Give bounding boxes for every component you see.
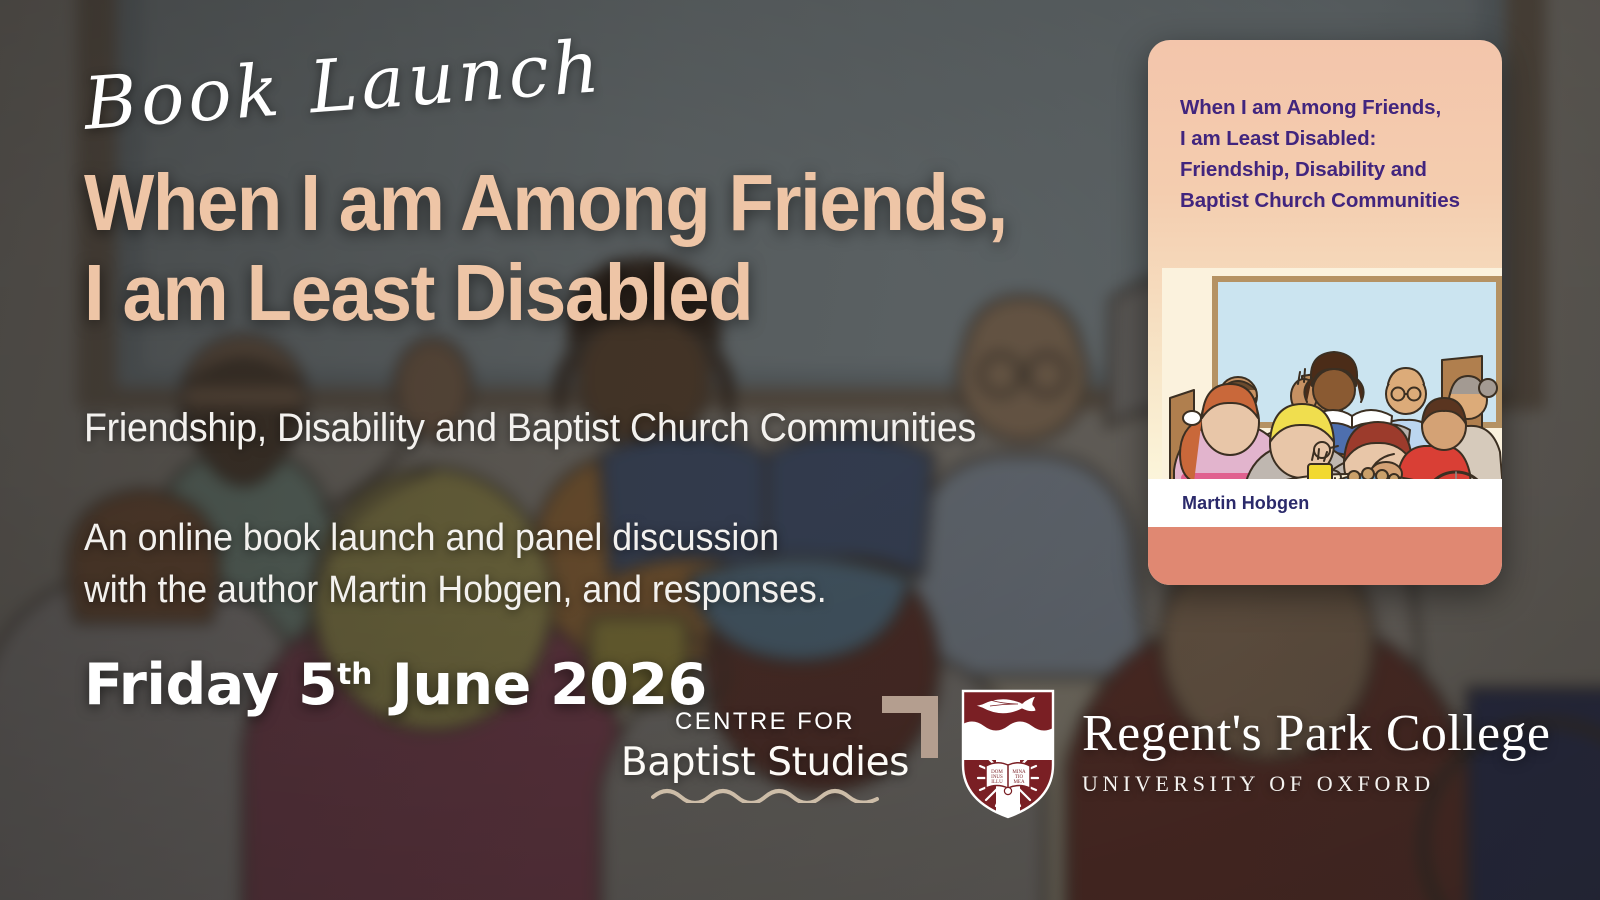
college-wordmark: Regent's Park College UNIVERSITY OF OXFO… [1082, 707, 1550, 801]
book-cover-author-band: Martin Hobgen [1148, 479, 1502, 527]
svg-text:MEA: MEA [1013, 780, 1025, 785]
poster-description: An online book launch and panel discussi… [84, 512, 827, 617]
centre-logo-line-1: CENTRE FOR [620, 708, 910, 736]
title-line-2: I am Least Disabled [84, 248, 1023, 338]
college-name: Regent's Park College [1082, 707, 1550, 760]
book-launch-poster: Book Launch When I am Among Friends, I a… [0, 0, 1600, 900]
svg-text:ILLU: ILLU [991, 780, 1003, 785]
bracket-vertical [921, 696, 938, 758]
page-title: When I am Among Friends, I am Least Disa… [84, 158, 1023, 337]
cover-title-line-2: I am Least Disabled: [1180, 123, 1482, 154]
description-line-2: with the author Martin Hobgen, and respo… [84, 564, 827, 616]
corner-bracket-divider [882, 696, 938, 758]
college-university: UNIVERSITY OF OXFORD [1082, 771, 1550, 797]
description-line-1: An online book launch and panel discussi… [84, 512, 827, 564]
wave-underline-icon [650, 787, 880, 803]
logo-row: CENTRE FOR Baptist Studies [620, 688, 1550, 838]
date-ordinal-suffix: th [337, 656, 372, 691]
cover-title-line-1: When I am Among Friends, [1180, 92, 1482, 123]
event-date: Friday 5th June 2026 [84, 652, 707, 718]
book-cover-bottom-band [1148, 527, 1502, 585]
book-cover-title: When I am Among Friends, I am Least Disa… [1180, 92, 1482, 217]
book-cover-author: Martin Hobgen [1182, 493, 1309, 514]
book-cover: When I am Among Friends, I am Least Disa… [1148, 40, 1502, 585]
cover-title-line-4: Baptist Church Communities [1180, 185, 1482, 216]
title-line-1: When I am Among Friends, [84, 158, 1023, 248]
cover-title-line-3: Friendship, Disability and [1180, 154, 1482, 185]
centre-logo-line-2: Baptist Studies [620, 740, 910, 785]
regents-park-college-logo: DOM INUS ILLU MINA TIO MEA Regent's Park… [960, 688, 1550, 820]
eyebrow-book-launch: Book Launch [81, 24, 606, 146]
poster-subtitle: Friendship, Disability and Baptist Churc… [84, 406, 976, 451]
date-day-part: Friday 5 [84, 652, 337, 718]
oxford-shield-icon: DOM INUS ILLU MINA TIO MEA [960, 688, 1056, 820]
centre-for-baptist-studies-logo: CENTRE FOR Baptist Studies [620, 708, 910, 808]
